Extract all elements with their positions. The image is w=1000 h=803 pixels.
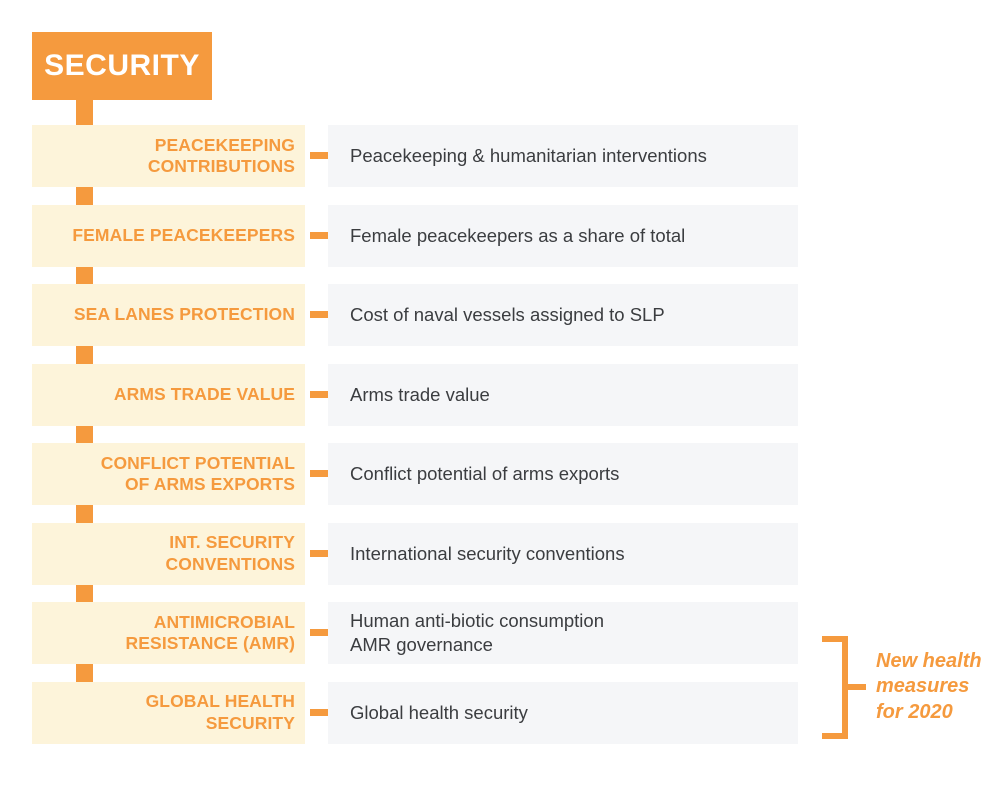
indicator-label-line: CONVENTIONS <box>166 554 295 575</box>
indicator-label-box[interactable]: FEMALE PEACEKEEPERS <box>32 205 305 267</box>
indicator-label-box[interactable]: GLOBAL HEALTHSECURITY <box>32 682 305 744</box>
stem-connector-icon <box>76 505 93 523</box>
annotation-line: for 2020 <box>876 700 1000 725</box>
indicator-row[interactable]: ARMS TRADE VALUEArms trade value <box>32 364 798 426</box>
annotation-line: measures <box>876 674 1000 699</box>
annotation-line: New health <box>876 649 1000 674</box>
bracket-icon <box>820 636 848 739</box>
indicator-label-line: SEA LANES PROTECTION <box>74 304 295 325</box>
indicator-row[interactable]: CONFLICT POTENTIALOF ARMS EXPORTSConflic… <box>32 443 798 505</box>
indicator-description-box[interactable]: Global health security <box>328 682 798 744</box>
stem-connector-icon <box>76 585 93 603</box>
indicator-description-line: Arms trade value <box>350 383 798 407</box>
indicator-row[interactable]: ANTIMICROBIALRESISTANCE (AMR)Human anti-… <box>32 602 798 664</box>
indicator-row[interactable]: SEA LANES PROTECTIONCost of naval vessel… <box>32 284 798 346</box>
indicator-label-box[interactable]: SEA LANES PROTECTION <box>32 284 305 346</box>
stem-connector-icon <box>76 664 93 682</box>
dash-connector-icon <box>310 470 330 477</box>
stem-connector-icon <box>76 346 93 364</box>
indicator-description-box[interactable]: Female peacekeepers as a share of total <box>328 205 798 267</box>
dash-connector-icon <box>310 550 330 557</box>
indicator-description-box[interactable]: Human anti-biotic consumptionAMR governa… <box>328 602 798 664</box>
bracket-arm-bottom-icon <box>822 733 848 739</box>
indicator-row[interactable]: INT. SECURITYCONVENTIONSInternational se… <box>32 523 798 585</box>
dash-connector-icon <box>310 629 330 636</box>
indicator-label-line: CONTRIBUTIONS <box>148 156 295 177</box>
indicator-description-box[interactable]: Conflict potential of arms exports <box>328 443 798 505</box>
stem-connector-icon <box>76 267 93 285</box>
dash-connector-icon <box>310 709 330 716</box>
page-title: SECURITY <box>44 51 200 81</box>
dash-connector-icon <box>310 152 330 159</box>
stem-connector-icon <box>76 100 93 125</box>
indicator-label-line: CONFLICT POTENTIAL <box>101 453 295 474</box>
indicator-description-box[interactable]: Arms trade value <box>328 364 798 426</box>
indicator-description-line: International security conventions <box>350 542 798 566</box>
indicator-label-box[interactable]: PEACEKEEPINGCONTRIBUTIONS <box>32 125 305 187</box>
indicator-label-box[interactable]: ANTIMICROBIALRESISTANCE (AMR) <box>32 602 305 664</box>
indicator-label-box[interactable]: INT. SECURITYCONVENTIONS <box>32 523 305 585</box>
stem-connector-icon <box>76 187 93 205</box>
indicator-description-line: Human anti-biotic consumption <box>350 609 798 633</box>
indicator-row[interactable]: GLOBAL HEALTHSECURITYGlobal health secur… <box>32 682 798 744</box>
indicator-row[interactable]: PEACEKEEPINGCONTRIBUTIONSPeacekeeping & … <box>32 125 798 187</box>
indicator-label-line: RESISTANCE (AMR) <box>126 633 295 654</box>
indicator-description-line: Peacekeeping & humanitarian intervention… <box>350 144 798 168</box>
annotation-text: New health measures for 2020 <box>876 649 1000 725</box>
indicator-description-box[interactable]: International security conventions <box>328 523 798 585</box>
indicator-description-line: Female peacekeepers as a share of total <box>350 224 798 248</box>
dash-connector-icon <box>310 311 330 318</box>
indicator-description-box[interactable]: Cost of naval vessels assigned to SLP <box>328 284 798 346</box>
indicator-label-line: ANTIMICROBIAL <box>154 612 295 633</box>
indicator-label-line: PEACEKEEPING <box>155 135 295 156</box>
indicator-label-line: GLOBAL HEALTH <box>146 691 295 712</box>
indicator-label-line: OF ARMS EXPORTS <box>125 474 295 495</box>
indicator-description-line: Global health security <box>350 701 798 725</box>
indicator-description-line: Conflict potential of arms exports <box>350 462 798 486</box>
indicator-description-line: AMR governance <box>350 633 798 657</box>
stem-connector-icon <box>76 426 93 444</box>
indicator-description-line: Cost of naval vessels assigned to SLP <box>350 303 798 327</box>
dash-connector-icon <box>310 391 330 398</box>
bracket-tick-icon <box>846 684 866 690</box>
header-block-security: SECURITY <box>32 32 212 100</box>
indicator-label-box[interactable]: CONFLICT POTENTIALOF ARMS EXPORTS <box>32 443 305 505</box>
diagram-canvas: SECURITY PEACEKEEPINGCONTRIBUTIONSPeacek… <box>0 0 1000 803</box>
indicator-row[interactable]: FEMALE PEACEKEEPERSFemale peacekeepers a… <box>32 205 798 267</box>
dash-connector-icon <box>310 232 330 239</box>
indicator-label-line: INT. SECURITY <box>169 532 295 553</box>
indicator-label-line: FEMALE PEACEKEEPERS <box>72 225 295 246</box>
indicator-label-box[interactable]: ARMS TRADE VALUE <box>32 364 305 426</box>
indicator-label-line: SECURITY <box>206 713 295 734</box>
indicator-description-box[interactable]: Peacekeeping & humanitarian intervention… <box>328 125 798 187</box>
indicator-label-line: ARMS TRADE VALUE <box>114 384 295 405</box>
